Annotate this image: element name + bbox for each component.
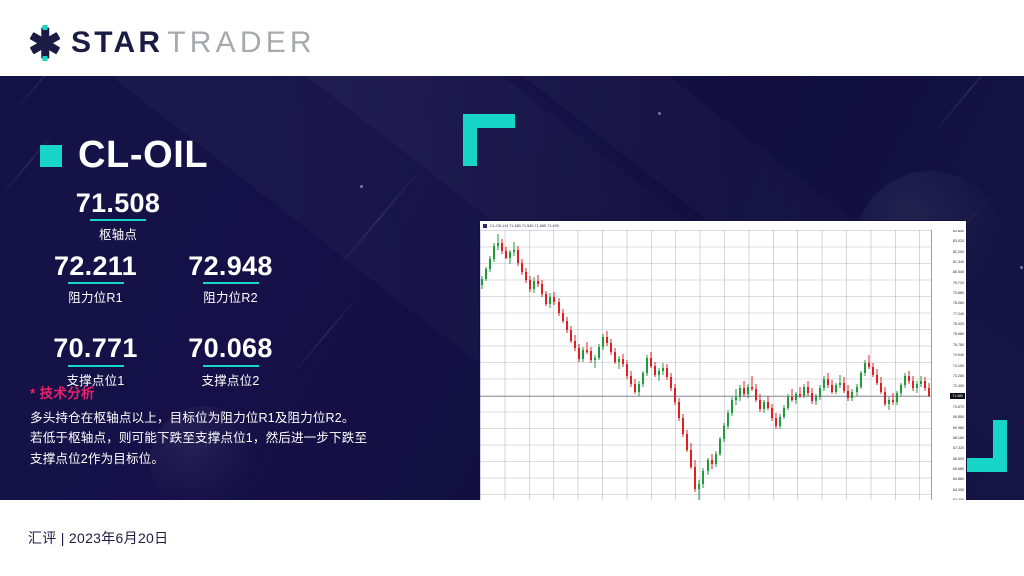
brand-name-secondary: TRADER [167,26,316,60]
r1-label: 阻力位R1 [28,287,163,306]
candlestick [880,230,882,500]
price-tick: 73.280 [953,375,964,379]
candlestick [658,230,660,500]
chart-title: CL-OIL,H4 71.480 71.540 71.665 71.490 [490,224,559,228]
candlestick [823,230,825,500]
page-title: CL-OIL [78,134,208,177]
candlestick [674,230,676,500]
candlestick [904,230,906,500]
candlestick [811,230,813,500]
price-tick: 79.720 [953,282,964,286]
candlestick [787,230,789,500]
candlestick [807,230,809,500]
candlestick [578,230,580,500]
current-price-tag: 71.480 [950,393,965,399]
candlestick [529,230,531,500]
candlestick [896,230,898,500]
technical-analysis-block: * 技术分析 多头持仓在枢轴点以上，目标位为阻力位R1及阻力位R2。 若低于枢轴… [30,382,395,469]
price-tick: 64.860 [953,478,964,482]
candlestick [775,230,777,500]
candlestick [541,230,543,500]
chart-plot-area[interactable] [480,230,931,500]
candlestick [827,230,829,500]
candlestick [702,230,704,500]
candlestick [831,230,833,500]
candlestick [690,230,692,500]
candlestick [533,230,535,500]
candlestick [634,230,636,500]
price-tick: 83.020 [953,240,964,244]
candlestick [739,230,741,500]
candlestick [847,230,849,500]
price-tick: 69.850 [953,416,964,420]
candlestick [618,230,620,500]
candlestick [497,230,499,500]
analysis-line-1: 多头持仓在枢轴点以上，目标位为阻力位R1及阻力位R2。 [30,408,395,428]
candlestick [485,230,487,500]
candlestick [562,230,564,500]
s2-underline [203,365,259,367]
asterisk-logo-icon [28,26,62,60]
candlestick [763,230,765,500]
candlestick [779,230,781,500]
price-tick: 83.840 [953,230,964,234]
candlestick [650,230,652,500]
candlestick [884,230,886,500]
brand-name-primary: STAR [71,26,163,60]
candlestick [731,230,733,500]
candlestick [678,230,680,500]
candlestick [771,230,773,500]
candlestick [509,230,511,500]
candlestick [646,230,648,500]
candlestick [598,230,600,500]
candlestick [856,230,858,500]
s2-value: 70.068 [163,334,298,362]
analysis-line-2: 若低于枢轴点，则可能下跌至支撑点位1，然后进一步下跌至 [30,428,395,448]
price-tick: 72.400 [953,385,964,389]
candlestick [860,230,862,500]
current-price-line [480,396,931,397]
price-tick: 68.160 [953,437,964,441]
candlestick [670,230,672,500]
candlestick [505,230,507,500]
candlestick [698,230,700,500]
candlestick [835,230,837,500]
candlestick [694,230,696,500]
price-tick: 75.780 [953,344,964,348]
candlestick [574,230,576,500]
candlestick [912,230,914,500]
candlestick [570,230,572,500]
pivot-underline [90,219,146,221]
r2-value: 72.948 [163,252,298,280]
price-tick: 69.980 [953,427,964,431]
candlestick [654,230,656,500]
level-pivot: 71.508 枢轴点 [59,189,177,243]
candlestick [686,230,688,500]
chart-header: CL-OIL,H4 71.480 71.540 71.665 71.490 [480,221,966,230]
level-s2: 70.068 支撑点位2 [163,334,298,388]
candlestick [638,230,640,500]
level-s1: 70.771 支撑点位1 [28,334,163,388]
price-tick: 63.200 [953,499,964,500]
r1-value: 72.211 [28,252,163,280]
candlestick [537,230,539,500]
candlestick [892,230,894,500]
r2-label: 阻力位R2 [163,287,298,306]
title-marker-square [40,145,62,167]
candlestick [916,230,918,500]
candlestick [558,230,560,500]
price-tick: 74.940 [953,354,964,358]
analysis-heading: * 技术分析 [30,382,395,402]
candlestick [622,230,624,500]
price-tick: 65.680 [953,468,964,472]
candlestick [791,230,793,500]
price-tick: 78.060 [953,302,964,306]
s1-value: 70.771 [28,334,163,362]
candlestick [819,230,821,500]
s1-underline [68,365,124,367]
price-tick: 66.500 [953,458,964,462]
candlestick [872,230,874,500]
price-chart[interactable]: CL-OIL,H4 71.480 71.540 71.665 71.490 83… [479,220,967,500]
candlestick [521,230,523,500]
candlestick [735,230,737,500]
candlestick [747,230,749,500]
candlestick [839,230,841,500]
candlestick [924,230,926,500]
candlestick [666,230,668,500]
levels-grid: 72.211 阻力位R1 72.948 阻力位R2 70.771 支撑点位1 7… [28,252,298,389]
candlestick [900,230,902,500]
candlestick [851,230,853,500]
candlestick [525,230,527,500]
candlestick [545,230,547,500]
candlestick [682,230,684,500]
candlestick [610,230,612,500]
candlestick [876,230,878,500]
level-r2: 72.948 阻力位R2 [163,252,298,306]
candlestick [549,230,551,500]
candlestick [759,230,761,500]
candlestick [566,230,568,500]
candlestick [582,230,584,500]
price-tick: 70.670 [953,406,964,410]
candlestick [868,230,870,500]
price-tick: 82.200 [953,251,964,255]
page-header: STAR TRADER [0,0,1024,76]
price-tick: 76.420 [953,323,964,327]
candlestick [723,230,725,500]
price-tick: 77.240 [953,313,964,317]
candlestick [606,230,608,500]
candlestick [767,230,769,500]
candlestick [493,230,495,500]
chart-marker-icon [483,224,487,228]
candlestick [711,230,713,500]
candlestick [755,230,757,500]
candlestick [751,230,753,500]
price-tick: 64.030 [953,489,964,493]
level-r1: 72.211 阻力位R1 [28,252,163,306]
analysis-line-3: 支撑点位2作为目标位。 [30,449,395,469]
price-tick: 67.320 [953,447,964,451]
candlestick [481,230,483,500]
price-tick: 75.680 [953,333,964,337]
brand-logo: STAR TRADER [28,26,316,60]
candlestick [602,230,604,500]
candlestick [586,230,588,500]
candlestick [513,230,515,500]
footer-caption: 汇评 | 2023年6月20日 [28,528,168,548]
price-axis: 83.84083.02082.20081.34080.54079.72079.8… [931,230,966,500]
candlestick [517,230,519,500]
candlestick [719,230,721,500]
candlestick [799,230,801,500]
r2-underline [203,282,259,284]
candlestick [614,230,616,500]
candlestick [920,230,922,500]
candlestick [630,230,632,500]
candlestick [795,230,797,500]
candlestick [662,230,664,500]
candlestick [626,230,628,500]
pivot-label: 枢轴点 [59,224,177,243]
pivot-value: 71.508 [59,189,177,217]
page-footer: 汇评 | 2023年6月20日 [0,500,1024,576]
r1-underline [68,282,124,284]
bracket-top-left [463,114,515,166]
candlestick [489,230,491,500]
candlestick [908,230,910,500]
candlestick [590,230,592,500]
candlestick [501,230,503,500]
price-tick: 79.880 [953,292,964,296]
candlestick [864,230,866,500]
instrument-title: CL-OIL [40,134,208,177]
candlestick [803,230,805,500]
candlestick [553,230,555,500]
candlestick [642,230,644,500]
candlestick [888,230,890,500]
price-tick: 80.540 [953,271,964,275]
candlestick [743,230,745,500]
candlestick [594,230,596,500]
candlestick [843,230,845,500]
candlestick [707,230,709,500]
candlestick [815,230,817,500]
candlestick [783,230,785,500]
price-tick: 81.340 [953,261,964,265]
candlestick [928,230,930,500]
candlestick [727,230,729,500]
content-stage: CL-OIL 71.508 枢轴点 72.211 阻力位R1 72.948 阻力… [0,76,1024,500]
candlestick [715,230,717,500]
price-tick: 74.100 [953,365,964,369]
